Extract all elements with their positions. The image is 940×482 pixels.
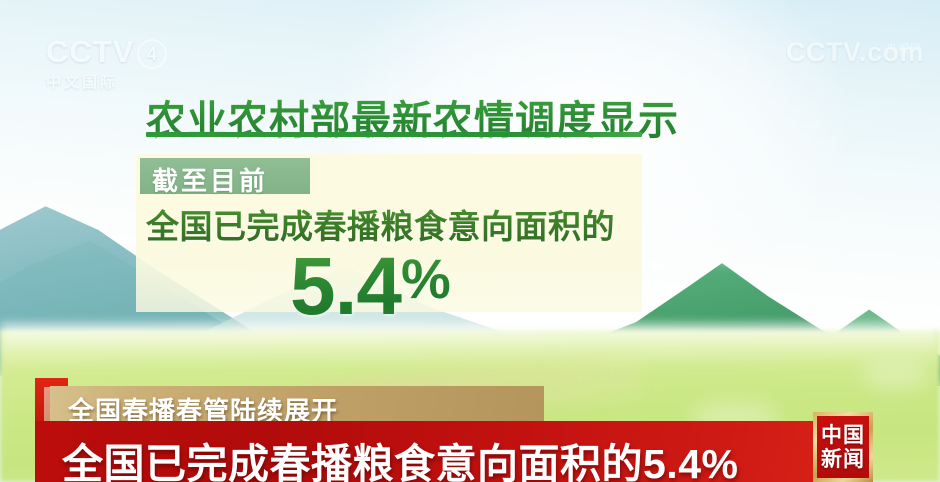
channel-logo-cctv4: CCTV4 中文国际 (46, 36, 236, 92)
broadcast-frame: CCTV4 中文国际 央视网 CCTV.com 农业农村部最新农情调度显示 截至… (0, 0, 940, 482)
web-watermark-cn: 央视网 (886, 40, 922, 56)
program-logo-inner: 中国 新闻 (817, 416, 869, 478)
channel-number: 4 (137, 39, 167, 69)
channel-logo-wordmark: CCTV4 (46, 36, 236, 69)
field-highlight-b (860, 360, 930, 390)
web-watermark: 央视网 CCTV.com (754, 38, 924, 82)
tag-badge-label: 截至目前 (152, 161, 268, 198)
ticker-bar-label: 全国已完成春播粮食意向面积的5.4% (62, 430, 738, 482)
program-logo-line-1: 中国 (821, 424, 865, 447)
program-logo-line-2: 新闻 (821, 448, 865, 471)
headline-underline (146, 132, 642, 137)
field-haze (0, 324, 940, 370)
program-logo: 中国 新闻 (813, 412, 873, 482)
figure-value: 5.4 (290, 241, 401, 332)
graphic-headline: 农业农村部最新农情调度显示 (146, 88, 679, 146)
channel-logo-text: CCTV (46, 34, 134, 69)
figure-unit: % (401, 247, 451, 310)
figure-value-block: 5.4% (290, 238, 451, 328)
